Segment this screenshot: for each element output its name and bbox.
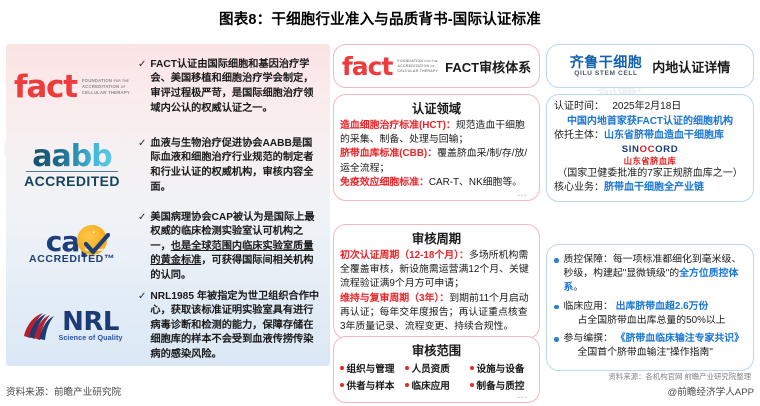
bullet-dot-icon bbox=[405, 366, 409, 370]
check-icon: ✓ bbox=[138, 58, 146, 72]
fact-logo: fact FOUNDATION FOR THE ACCREDITATION OF… bbox=[6, 72, 138, 103]
check-icon: ✓ bbox=[138, 290, 146, 304]
audit-scope-card: 审核范围 组织与管理 人员资质 设施与设备 供者与样本 临床应用 制备与质控 … bbox=[333, 336, 540, 403]
highlights-card: 质控保障：每一项标准都细化到毫米级、秒级，构建起"显微镜级"的全方位质控体系。 … bbox=[546, 244, 754, 371]
bullet-dot-icon bbox=[554, 337, 559, 342]
cert-time-row: 认证时间： 2025年2月18日 bbox=[554, 100, 746, 115]
bullet-dot-icon bbox=[405, 383, 409, 387]
nrl-logo-tagline: Science of Quality bbox=[58, 333, 122, 342]
certification-info-card: 认证时间： 2025年2月18日 中国内地首家获FACT认证的细胞机构 依托主体… bbox=[546, 94, 754, 202]
qilu-logo-cn: 齐鲁干细胞 bbox=[570, 55, 643, 70]
sinocord-wordmark: SINOCORD bbox=[554, 144, 746, 155]
audit-scope-ellipsis: … bbox=[340, 392, 533, 399]
certification-fields-title: 认证领域 bbox=[340, 99, 533, 117]
nrl-logo: NRL Science of Quality bbox=[6, 310, 138, 343]
bullet-dot-icon bbox=[554, 258, 559, 263]
sinocord-cn-name: 山东省脐血库 bbox=[554, 155, 746, 167]
audit-scope-list: 组织与管理 人员资质 设施与设备 供者与样本 临床应用 制备与质控 bbox=[340, 361, 533, 392]
entity-row: 依托主体：山东省脐带血造血干细胞库 bbox=[554, 129, 746, 144]
audit-scope-item: 临床应用 bbox=[405, 378, 468, 392]
fact-audit-system-panel: fact FOUNDATION FOR THE ACCREDITATION OF… bbox=[333, 44, 540, 366]
infographic-page: 图表8：干细胞行业准入与品质背书-国际认证标准 前瞻产业研究院 中国产业咨询领导… bbox=[0, 0, 760, 406]
fact-logo-wordmark: fact bbox=[14, 72, 77, 103]
bullet-dot-icon bbox=[470, 383, 474, 387]
entity-note: （国家卫健委批准的7家正规脐血库之一） bbox=[554, 167, 746, 182]
certification-field-item: 脐带血库标准(CBB)：覆盖脐血采/制/存/放/运全流程； bbox=[340, 147, 533, 175]
fact-logo: fact FOUNDATION FOR THE ACCREDITATION OF… bbox=[342, 54, 438, 79]
cap-logo-check-icon bbox=[84, 233, 110, 255]
fact-audit-header-card: fact FOUNDATION FOR THE ACCREDITATION OF… bbox=[333, 44, 540, 88]
audit-cycle-title: 审核周期 bbox=[340, 229, 533, 247]
nrl-logo-wordmark: NRL bbox=[58, 310, 122, 335]
qilu-header-card: 齐鲁干细胞 QILU STEM CELL 内地认证详情 bbox=[546, 44, 754, 88]
audit-scope-item: 设施与设备 bbox=[470, 361, 533, 375]
certification-row-nrl: NRL Science of Quality ✓ NRL1985 年被指定为世卫… bbox=[6, 290, 330, 362]
left-certifications-panel: fact FOUNDATION FOR THE ACCREDITATION OF… bbox=[6, 44, 330, 366]
right-source-note: 资料来源：各机构官网 前瞻产业研究院整理 bbox=[609, 371, 751, 382]
aabb-logo-accredited: ACCREDITED bbox=[24, 173, 120, 189]
clinical-application-text: 临床应用： 出库脐带血超2.6万份占全国脐带血出库总量的50%以上 bbox=[564, 300, 726, 328]
fact-logo-subtitle: FOUNDATION FOR THE ACCREDITATION OF CELL… bbox=[82, 78, 130, 96]
fact-description-text: FACT认证由国际细胞和基因治疗学会、美国移植和细胞治疗学会制定，审评过程极严苛… bbox=[150, 58, 322, 116]
fact-audit-header-title: FACT审核体系 bbox=[445, 57, 531, 76]
aabb-description-text: 血液与生物治疗促进协会AABB是国际血液和细胞治疗行业规范的制定者和行业认证的权… bbox=[150, 137, 322, 195]
qilu-logo: 齐鲁干细胞 QILU STEM CELL bbox=[570, 55, 643, 77]
certification-field-item: 免疫效应细胞标准：CAR-T、NK细胞等。 bbox=[340, 176, 533, 190]
qilu-logo-en: QILU STEM CELL bbox=[570, 70, 643, 77]
fact-logo-wordmark: fact bbox=[342, 54, 393, 79]
certification-row-cap: cap ACCREDITED™ ✓ 美国病理协会CAP被认为是国际上最权威的临床… bbox=[6, 208, 330, 286]
footer-source: 资料来源：前瞻产业研究院 bbox=[6, 384, 121, 398]
certification-row-aabb: aabb ACCREDITED ✓ 血液与生物治疗促进协会AABB是国际血液和细… bbox=[6, 128, 330, 204]
audit-scope-item: 供者与样本 bbox=[340, 378, 403, 392]
highlight-item: 质控保障：每一项标准都细化到毫米级、秒级，构建起"显微镜级"的全方位质控体系。 bbox=[554, 253, 746, 296]
certification-description: ✓ NRL1985 年被指定为世卫组织合作中心，获取该标准证明实验室具有进行病毒… bbox=[138, 290, 330, 363]
certification-fields-card: 认证领域 造血细胞治疗标准(HCT)：规范造血干细胞的采集、制备、处理与回输； … bbox=[333, 94, 540, 201]
aabb-logo-wordmark: aabb bbox=[24, 143, 120, 170]
check-icon: ✓ bbox=[138, 211, 146, 225]
cap-description-text: 美国病理协会CAP被认为是国际上最权威的临床检测实验室认可机构之一，也是全球范围… bbox=[150, 211, 322, 284]
audit-cycle-item: 初次认证周期（12-18个月）：多场所机构需全覆盖审核，新设施需运营满12个月、… bbox=[340, 249, 533, 292]
audit-cycle-card: 审核周期 初次认证周期（12-18个月）：多场所机构需全覆盖审核，新设施需运营满… bbox=[333, 224, 540, 339]
bullet-dot-icon bbox=[470, 366, 474, 370]
bullet-dot-icon bbox=[554, 305, 559, 310]
cap-logo-accredited: ACCREDITED™ bbox=[29, 253, 115, 265]
highlight-item: 临床应用： 出库脐带血超2.6万份占全国脐带血出库总量的50%以上 bbox=[554, 300, 746, 328]
cap-logo: cap ACCREDITED™ bbox=[6, 229, 138, 266]
fact-logo-subtitle: FOUNDATION FOR THE ACCREDITATION OF CELL… bbox=[397, 59, 438, 74]
mainland-certification-panel: 齐鲁干细胞 QILU STEM CELL 内地认证详情 认证时间： 2025年2… bbox=[546, 44, 754, 366]
certification-description: ✓ 血液与生物治疗促进协会AABB是国际血液和细胞治疗行业规范的制定者和行业认证… bbox=[138, 137, 330, 195]
certification-fields-ellipsis: … bbox=[340, 190, 533, 197]
certification-field-item: 造血细胞治疗标准(HCT)：规范造血干细胞的采集、制备、处理与回输； bbox=[340, 119, 533, 147]
bullet-dot-icon bbox=[340, 383, 344, 387]
aabb-logo: aabb ACCREDITED bbox=[6, 143, 138, 190]
guideline-participation-text: 参与编撰： 《脐带血临床输注专家共识》全国首个脐带血输注"操作指南" bbox=[564, 332, 745, 360]
nrl-description-text: NRL1985 年被指定为世卫组织合作中心，获取该标准证明实验室具有进行病毒诊断… bbox=[150, 290, 322, 363]
core-business-row: 核心业务：脐带血干细胞全产业链 bbox=[554, 181, 746, 196]
bullet-dot-icon bbox=[340, 366, 344, 370]
audit-scope-title: 审核范围 bbox=[340, 341, 533, 359]
audit-scope-item: 组织与管理 bbox=[340, 361, 403, 375]
certification-row-fact: fact FOUNDATION FOR THE ACCREDITATION OF… bbox=[6, 50, 330, 124]
quality-control-text: 质控保障：每一项标准都细化到毫米级、秒级，构建起"显微镜级"的全方位质控体系。 bbox=[564, 253, 747, 296]
nrl-logo-fan-icon bbox=[21, 311, 55, 341]
footer-brand: @前瞻经济学人APP bbox=[668, 384, 755, 398]
audit-scope-item: 人员资质 bbox=[405, 361, 468, 375]
page-title: 图表8：干细胞行业准入与品质背书-国际认证标准 bbox=[0, 8, 760, 29]
highlight-item: 参与编撰： 《脐带血临床输注专家共识》全国首个脐带血输注"操作指南" bbox=[554, 332, 746, 360]
check-icon: ✓ bbox=[138, 137, 146, 151]
certification-description: ✓ FACT认证由国际细胞和基因治疗学会、美国移植和细胞治疗学会制定，审评过程极… bbox=[138, 58, 330, 116]
cert-time-note: 中国内地首家获FACT认证的细胞机构 bbox=[554, 115, 746, 130]
certification-description: ✓ 美国病理协会CAP被认为是国际上最权威的临床检测实验室认可机构之一，也是全球… bbox=[138, 211, 330, 284]
mainland-certification-title: 内地认证详情 bbox=[652, 57, 730, 76]
audit-cycle-item: 维持与复审周期（3年）：到期前11个月启动再认证；每年交年度报告；再认证重点核查… bbox=[340, 292, 533, 335]
